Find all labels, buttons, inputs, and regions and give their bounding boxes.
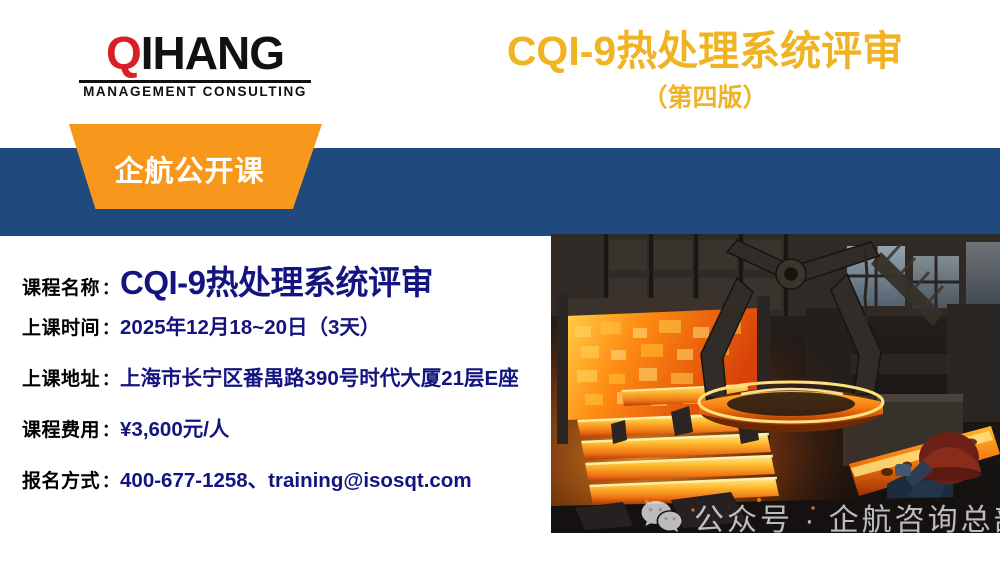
- brand-wordmark-rest: IHANG: [141, 27, 284, 79]
- title-block: CQI-9热处理系统评审 （第四版）: [420, 26, 990, 115]
- info-value-registration: 400-677-1258、training@isosqt.com: [120, 463, 472, 493]
- info-colon: ：: [100, 416, 120, 441]
- info-row-course-name: 课程名称 ： CQI-9热处理系统评审: [22, 256, 547, 310]
- course-type-badge-label: 企航公开课: [114, 148, 264, 190]
- brand-logo: QIHANG MANAGEMENT CONSULTING: [75, 28, 315, 106]
- info-row-registration: 报名方式 ： 400-677-1258、training@isosqt.com: [22, 463, 547, 514]
- info-label-course-date: 上课时间: [22, 313, 100, 340]
- info-row-course-fee: 课程费用 ： ¥3,600元/人: [22, 412, 547, 463]
- info-value-course-name: CQI-9热处理系统评审: [120, 256, 433, 304]
- info-label-course-fee: 课程费用: [22, 415, 100, 442]
- info-row-course-address: 上课地址 ： 上海市长宁区番禺路390号时代大厦21层E座: [22, 361, 547, 412]
- info-value-course-date: 2025年12月18~20日（3天）: [120, 310, 380, 340]
- page-title: CQI-9热处理系统评审: [420, 26, 990, 76]
- info-colon: ：: [100, 314, 120, 339]
- course-info-list: 课程名称 ： CQI-9热处理系统评审 上课时间 ： 2025年12月18~20…: [22, 256, 547, 514]
- info-value-course-fee: ¥3,600元/人: [120, 412, 229, 442]
- info-value-course-address: 上海市长宁区番禺路390号时代大厦21层E座: [120, 361, 519, 391]
- edition-subtitle: （第四版）: [420, 81, 990, 115]
- heat-treatment-photo-image: [551, 234, 1000, 533]
- heat-treatment-photo: [551, 234, 1000, 533]
- info-colon: ：: [100, 274, 120, 299]
- info-label-registration: 报名方式: [22, 466, 100, 493]
- info-colon: ：: [100, 467, 120, 492]
- info-label-course-address: 上课地址: [22, 364, 100, 391]
- info-label-course-name: 课程名称: [22, 273, 100, 300]
- info-row-course-date: 上课时间 ： 2025年12月18~20日（3天）: [22, 310, 547, 361]
- brand-tagline: MANAGEMENT CONSULTING: [75, 84, 315, 99]
- bottom-strip: [0, 533, 1000, 562]
- brand-wordmark-initial: Q: [106, 27, 141, 79]
- brand-divider: [79, 80, 311, 83]
- info-colon: ：: [100, 365, 120, 390]
- brand-wordmark: QIHANG: [75, 28, 315, 78]
- course-type-badge: 企航公开课: [57, 124, 322, 209]
